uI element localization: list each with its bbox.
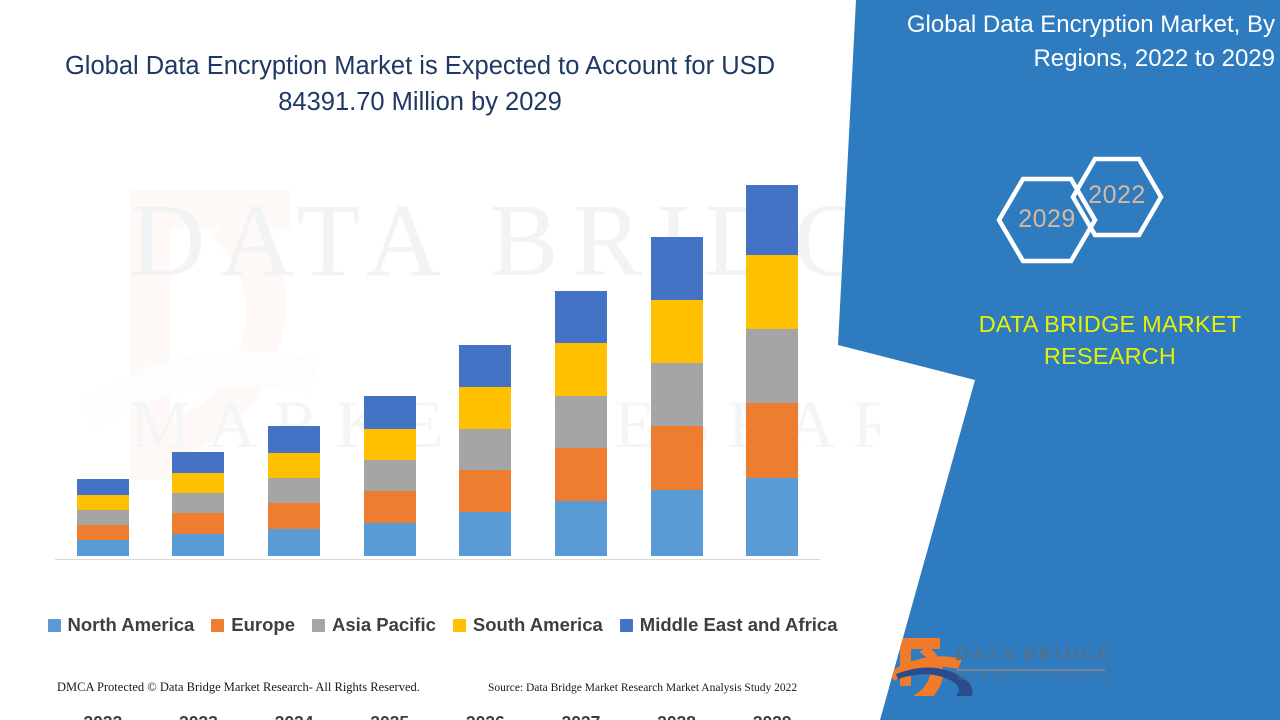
bar-segment[interactable]	[459, 470, 511, 512]
bar-segment[interactable]	[172, 493, 224, 513]
x-axis-line	[55, 559, 820, 560]
bar-segment[interactable]	[268, 529, 320, 556]
bar-segment[interactable]	[77, 510, 129, 525]
x-axis-tick-label: 2026	[438, 712, 534, 720]
legend-swatch-icon	[312, 619, 325, 632]
brand-name: DATA BRIDGE MARKET RESEARCH	[960, 308, 1260, 373]
bar-segment[interactable]	[172, 534, 224, 556]
bar-segment[interactable]	[77, 525, 129, 540]
hexagon-label-end-year: 2022	[1073, 181, 1161, 210]
stacked-bar[interactable]	[459, 345, 511, 556]
x-axis-tick-label: 2024	[246, 712, 342, 720]
bar-segment[interactable]	[746, 403, 798, 478]
bar-segment[interactable]	[555, 501, 607, 556]
legend-swatch-icon	[453, 619, 466, 632]
chart-legend: North AmericaEuropeAsia PacificSouth Ame…	[55, 614, 830, 636]
bar-segment[interactable]	[651, 300, 703, 363]
logo-text-secondary: MARKET RESEARCH	[957, 673, 1110, 683]
bar-segment[interactable]	[172, 473, 224, 493]
page-title: Global Data Encryption Market is Expecte…	[55, 48, 785, 120]
bar-segment[interactable]	[268, 426, 320, 453]
x-axis-tick-label: 2027	[533, 712, 629, 720]
bar-segment[interactable]	[555, 448, 607, 501]
stacked-bar[interactable]	[555, 291, 607, 556]
legend-swatch-icon	[620, 619, 633, 632]
bar-segment[interactable]	[364, 460, 416, 491]
bar-slot	[724, 150, 820, 556]
stacked-bar[interactable]	[77, 479, 129, 556]
chart-title: Global Data Encryption Market, By Region…	[885, 8, 1275, 76]
bar-segment[interactable]	[364, 491, 416, 523]
x-axis-tick-label: 2022	[55, 712, 151, 720]
bar-segment[interactable]	[172, 513, 224, 534]
x-axis-tick-label: 2025	[342, 712, 438, 720]
bar-segment[interactable]	[746, 478, 798, 556]
bar-segment[interactable]	[77, 495, 129, 510]
bar-segment[interactable]	[555, 291, 607, 343]
legend-swatch-icon	[48, 619, 61, 632]
bar-slot	[151, 150, 247, 556]
bar-segment[interactable]	[364, 396, 416, 429]
bar-segment[interactable]	[746, 329, 798, 403]
bar-segment[interactable]	[459, 345, 511, 387]
x-axis-labels: 20222023202420252026202720282029	[55, 712, 820, 720]
bar-segment[interactable]	[268, 478, 320, 503]
legend-item[interactable]: Asia Pacific	[312, 614, 436, 636]
legend-swatch-icon	[211, 619, 224, 632]
bar-segment[interactable]	[268, 453, 320, 478]
bar-slot	[438, 150, 534, 556]
footer: DMCA Protected © Data Bridge Market Rese…	[0, 680, 880, 708]
legend-label: Middle East and Africa	[640, 614, 838, 636]
stacked-bar[interactable]	[268, 426, 320, 556]
source-text: Source: Data Bridge Market Research Mark…	[488, 682, 797, 694]
hexagon-group: 2029 2022	[985, 155, 1185, 285]
copyright-text: DMCA Protected © Data Bridge Market Rese…	[57, 680, 420, 695]
bar-slot	[55, 150, 151, 556]
x-axis-tick-label: 2029	[724, 712, 820, 720]
bar-segment[interactable]	[651, 490, 703, 556]
legend-item[interactable]: South America	[453, 614, 603, 636]
legend-label: Asia Pacific	[332, 614, 436, 636]
stacked-bar[interactable]	[172, 452, 224, 556]
legend-label: North America	[68, 614, 195, 636]
logo-text-primary: DATA BRIDGE	[955, 644, 1113, 666]
bar-segment[interactable]	[268, 503, 320, 529]
left-chart-panel: DATA BRIDGE MARKET RESEARCH Global Data …	[0, 0, 880, 720]
chart-plot-area	[55, 150, 820, 556]
bar-segment[interactable]	[651, 363, 703, 426]
bar-slot	[246, 150, 342, 556]
chart-infographic: DATA BRIDGE MARKET RESEARCH Global Data …	[0, 0, 1280, 720]
x-axis-tick-label: 2023	[151, 712, 247, 720]
bar-segment[interactable]	[77, 479, 129, 495]
bar-segment[interactable]	[77, 540, 129, 556]
bar-segment[interactable]	[555, 343, 607, 396]
legend-label: Europe	[231, 614, 295, 636]
bar-segment[interactable]	[746, 255, 798, 329]
bar-slot	[533, 150, 629, 556]
bar-segment[interactable]	[172, 452, 224, 473]
legend-item[interactable]: Europe	[211, 614, 295, 636]
bar-segment[interactable]	[364, 429, 416, 460]
bar-segment[interactable]	[746, 185, 798, 255]
stacked-bar[interactable]	[746, 185, 798, 556]
legend-label: South America	[473, 614, 603, 636]
bar-segment[interactable]	[364, 523, 416, 556]
bar-segment[interactable]	[651, 237, 703, 300]
bar-segment[interactable]	[459, 387, 511, 429]
legend-item[interactable]: Middle East and Africa	[620, 614, 838, 636]
stacked-bar[interactable]	[651, 237, 703, 556]
stacked-bar-chart: 20222023202420252026202720282029	[55, 150, 825, 560]
stacked-bar[interactable]	[364, 396, 416, 556]
bar-segment[interactable]	[459, 429, 511, 470]
x-axis-tick-label: 2028	[629, 712, 725, 720]
logo-divider	[957, 669, 1105, 671]
bar-slot	[342, 150, 438, 556]
bar-segment[interactable]	[555, 396, 607, 448]
bar-segment[interactable]	[651, 426, 703, 490]
bar-segment[interactable]	[459, 512, 511, 556]
bar-slot	[629, 150, 725, 556]
legend-item[interactable]: North America	[48, 614, 195, 636]
